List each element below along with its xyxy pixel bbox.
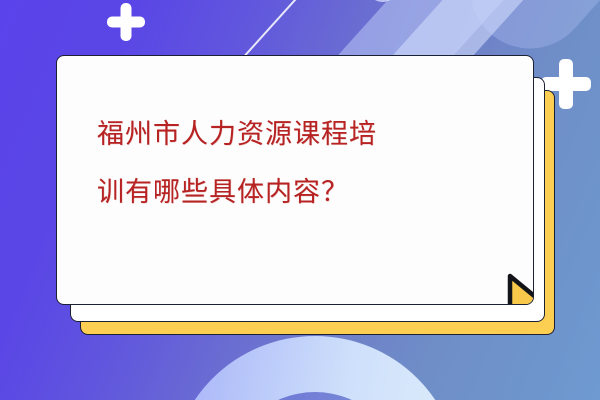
plus-icon-vertical-bar — [121, 3, 132, 41]
plus-icon-vertical-bar — [559, 59, 573, 109]
concentric-circle-outer-decoration — [170, 336, 460, 400]
cover-image-canvas: 福州市人力资源课程培 训有哪些具体内容？ — [0, 0, 600, 400]
mouse-pointer-icon — [503, 272, 534, 305]
diagonal-bar-decoration-3 — [359, 0, 511, 9]
concentric-circle-inner-decoration — [226, 392, 404, 400]
card-front: 福州市人力资源课程培 训有哪些具体内容？ — [56, 55, 534, 305]
page-title: 福州市人力资源课程培 训有哪些具体内容？ — [97, 106, 497, 222]
plus-icon-top-left — [106, 2, 146, 42]
